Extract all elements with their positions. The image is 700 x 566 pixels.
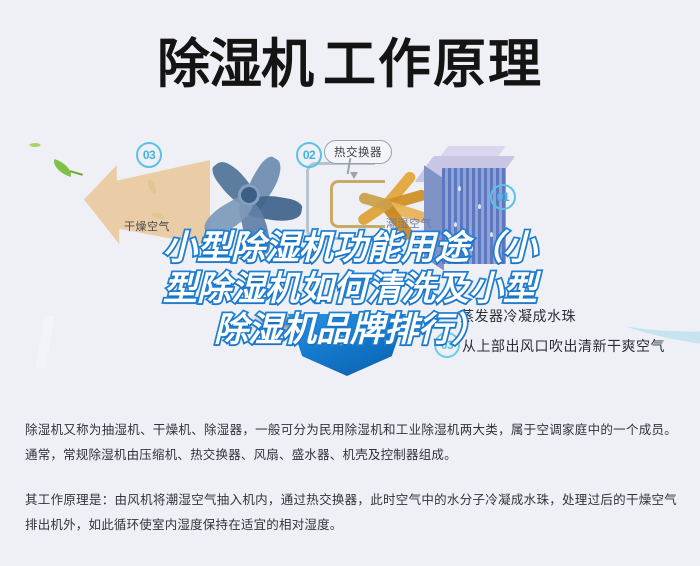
page-root: 除湿机工作原理 干燥空气 [0, 0, 700, 566]
step-badge-03: 03 [136, 142, 162, 168]
working-principle-diagram: 干燥空气 [0, 126, 700, 408]
water-tank-label: 水箱 [326, 332, 350, 348]
leaf-icon [29, 140, 41, 150]
step-badge-03-secondary: 03 [434, 332, 460, 358]
step-description-evaporator: 蒸发器冷凝成水珠 [460, 306, 576, 326]
condensation-droplet [478, 204, 481, 209]
condensation-droplet [490, 232, 493, 237]
humid-air-label: 潮湿空气 [386, 215, 432, 231]
callout-pointer-icon [350, 172, 358, 179]
dry-air-label: 干燥空气 [124, 218, 170, 234]
heat-exchanger-callout: 热交换器 [324, 140, 392, 164]
condensation-droplet [458, 186, 461, 191]
step-badge-02: 02 [296, 142, 322, 168]
article-paragraph-2: 其工作原理是：由风机将潮湿空气抽入机内，通过热交换器，此时空气中的水分子冷凝成水… [25, 488, 677, 538]
fan-hub [238, 184, 260, 206]
page-title-part-1: 除湿机 [157, 34, 313, 95]
page-title: 除湿机工作原理 [0, 0, 700, 128]
condensation-droplet [454, 222, 457, 227]
heat-exchanger-graphic [438, 166, 516, 260]
article-body: 除湿机又称为抽湿机、干燥机、除湿器，一般可分为民用除湿机和工业除湿机两大类，属于… [25, 418, 677, 538]
leaf-icon [51, 159, 75, 177]
water-tank-highlight [35, 316, 54, 368]
condensation-droplet [470, 246, 473, 251]
step-description-outlet: 从上部出风口吹出清新干爽空气 [462, 336, 665, 356]
leaf-stem-icon [70, 170, 83, 175]
page-title-part-2: 工作原理 [323, 34, 543, 95]
heat-exchanger-fins [442, 168, 506, 264]
page-title-text: 除湿机工作原理 [157, 38, 543, 91]
fan-icon [198, 150, 314, 254]
article-paragraph-1: 除湿机又称为抽湿机、干燥机、除湿器，一般可分为民用除湿机和工业除湿机两大类，属于… [25, 418, 677, 468]
step-badge-01: 01 [490, 184, 516, 210]
